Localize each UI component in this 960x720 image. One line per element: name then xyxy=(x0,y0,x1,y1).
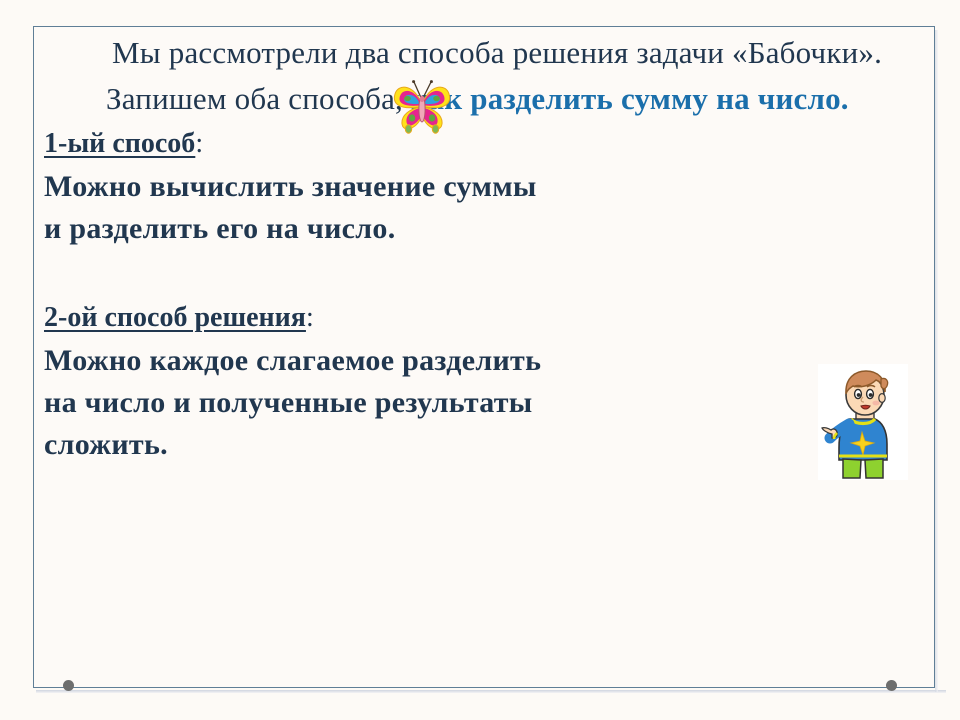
method-2-heading: 2-ой способ решения: xyxy=(44,296,924,340)
intro-paragraph-2: Запишем оба способа, как разделить сумму… xyxy=(44,76,924,122)
method-1-heading-text: 1-ый способ xyxy=(44,128,195,159)
method-2-body-line-2: на число и полученные результаты xyxy=(44,382,924,424)
boy-pointing-icon xyxy=(818,364,908,480)
slide-canvas: Мы рассмотрели два способа решения задач… xyxy=(0,0,960,720)
method-1-body-line-2: и разделить его на число. xyxy=(44,208,924,250)
slide-text-content: Мы рассмотрели два способа решения задач… xyxy=(44,30,924,466)
frame-shadow-right xyxy=(935,30,938,692)
method-2-body: Можно каждое слагаемое разделить на числ… xyxy=(44,340,924,466)
decorative-dot-right xyxy=(886,680,897,691)
intro-paragraph-2-highlight: как разделить сумму на число. xyxy=(411,81,849,116)
method-2-heading-colon: : xyxy=(306,302,314,333)
method-1-heading: 1-ый способ: xyxy=(44,122,924,166)
section-spacer xyxy=(44,250,924,296)
method-1-body-line-1: Можно вычислить значение суммы xyxy=(44,166,924,208)
method-1-body: Можно вычислить значение суммы и раздели… xyxy=(44,166,924,250)
decorative-dot-left xyxy=(63,680,74,691)
frame-shadow-bottom xyxy=(36,690,946,693)
method-2-body-line-1: Можно каждое слагаемое разделить xyxy=(44,340,924,382)
intro-paragraph-2-plain: Запишем оба способа, xyxy=(106,81,411,116)
method-2-heading-text: 2-ой способ решения xyxy=(44,302,306,333)
method-2-body-line-3: сложить. xyxy=(44,424,924,466)
intro-paragraph-1: Мы рассмотрели два способа решения задач… xyxy=(44,30,924,76)
method-1-heading-colon: : xyxy=(195,128,203,159)
butterfly-icon xyxy=(390,76,454,138)
